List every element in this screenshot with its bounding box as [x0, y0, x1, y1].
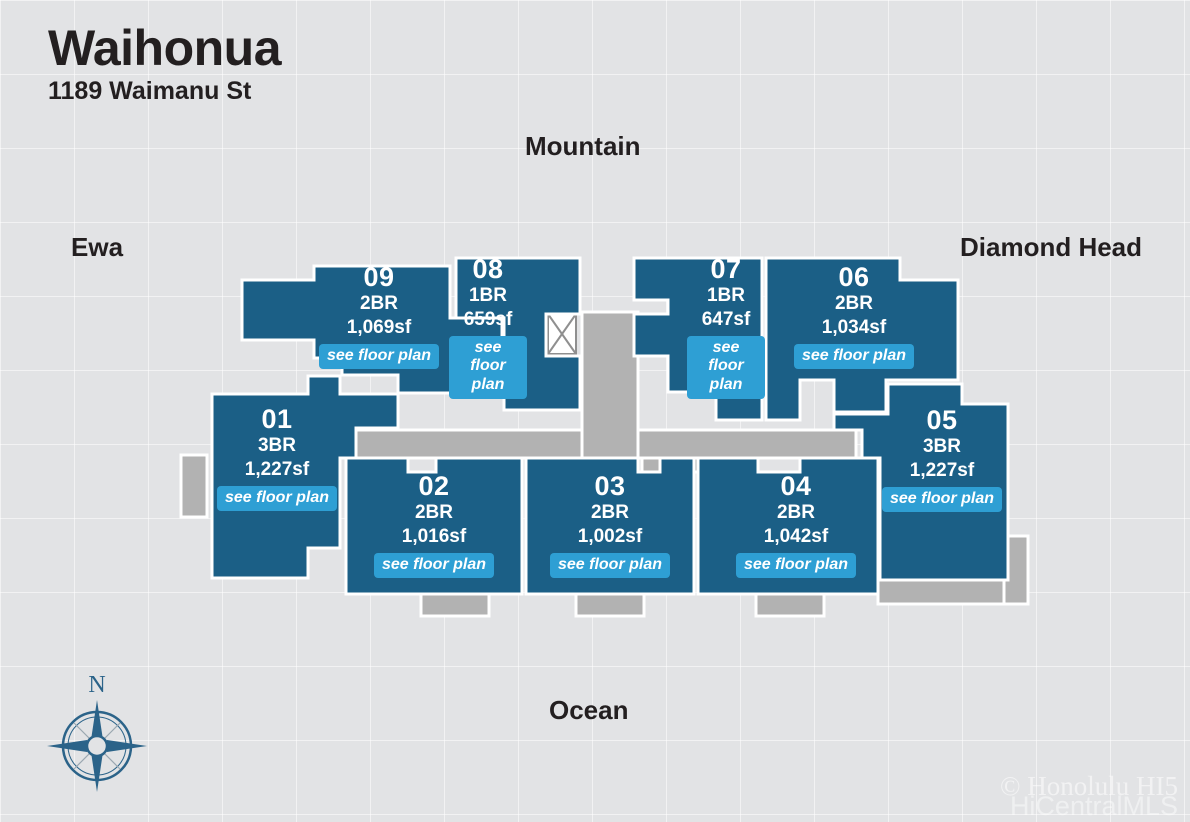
unit-07-shape[interactable]: [634, 258, 762, 420]
compass-rose: N: [47, 672, 147, 792]
elevator-shaft-icon-left: [548, 314, 576, 354]
unit-04-shape[interactable]: [698, 458, 878, 594]
unit-02-shape[interactable]: [346, 458, 522, 594]
lanai-unit-04: [756, 594, 824, 616]
compass-north-label: N: [47, 672, 147, 699]
floor-plate-diagram: Waihonua 1189 Waimanu St Mountain Ewa Di…: [0, 0, 1190, 822]
lanai-unit-02: [421, 594, 489, 616]
building-footprint: [0, 0, 1190, 822]
corridor-vertical: [582, 312, 638, 458]
compass-rose-icon: [47, 700, 147, 792]
unit-03-shape[interactable]: [526, 458, 694, 594]
lanai-unit-01: [181, 455, 207, 517]
lanai-unit-03: [576, 594, 644, 616]
